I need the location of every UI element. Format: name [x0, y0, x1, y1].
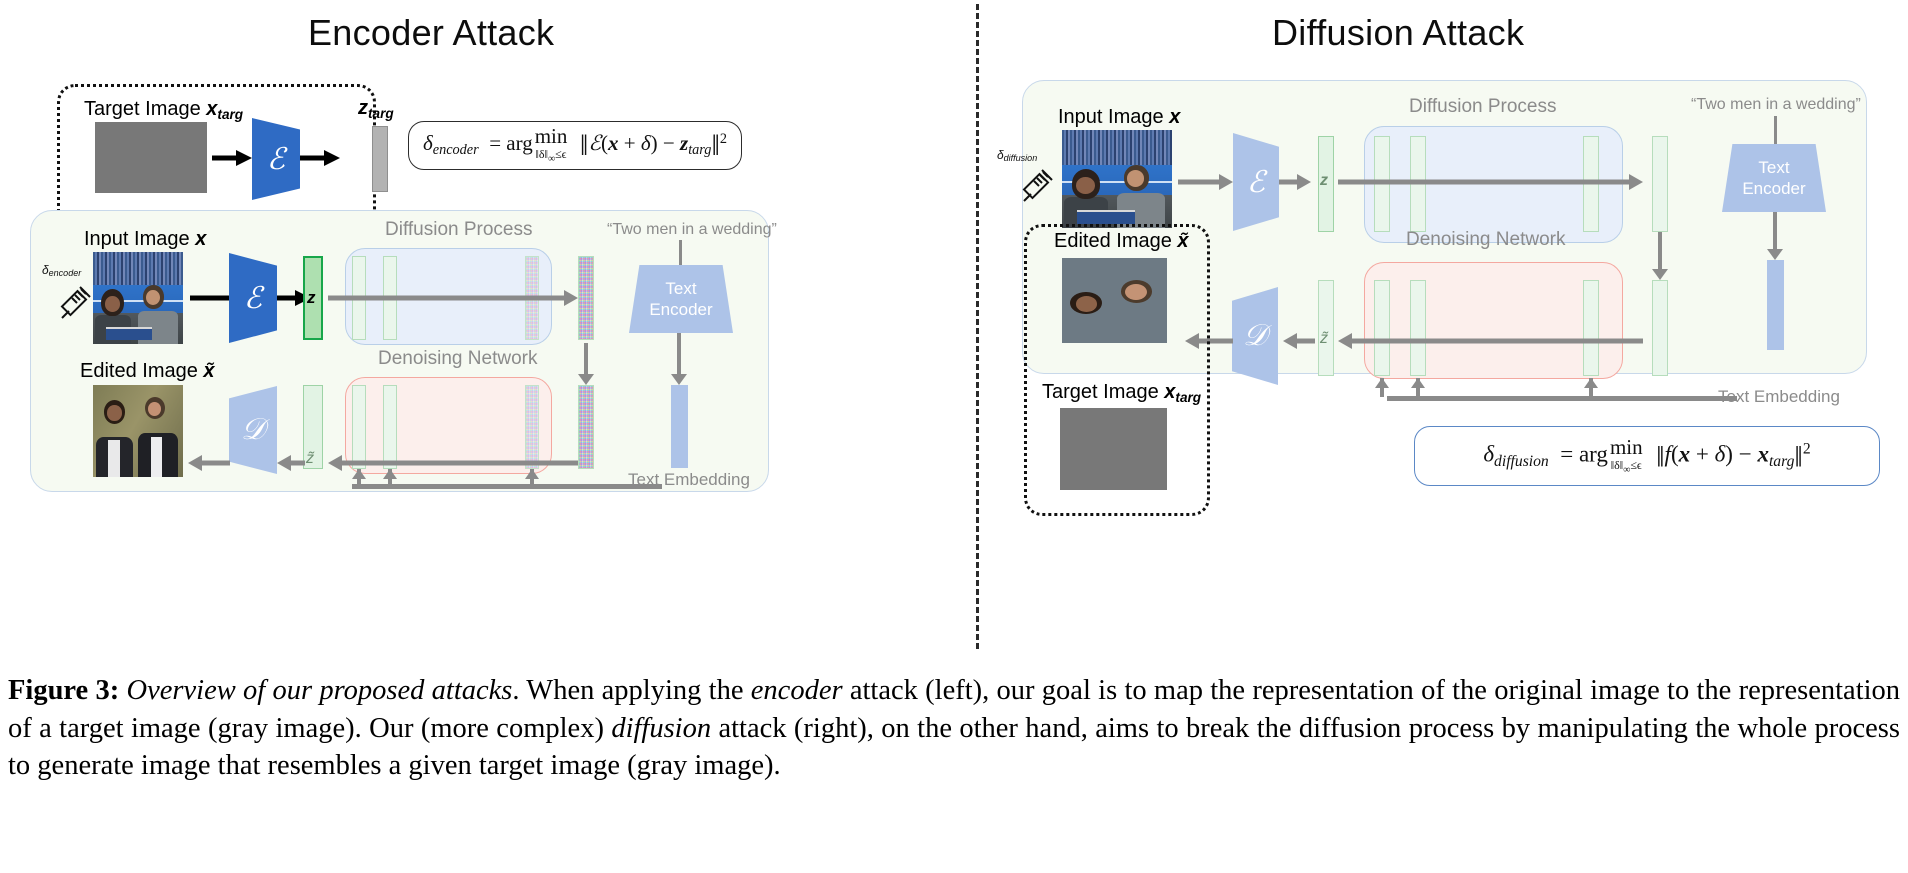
- right-latent-ztilde-bar: [1318, 280, 1334, 376]
- left-target-image-var: x: [206, 98, 217, 120]
- left-denoising-network-label: Denoising Network: [378, 348, 537, 370]
- syringe-icon: [58, 280, 98, 322]
- right-input-image-thumbnail: [1062, 130, 1172, 228]
- left-input-encoder-block: ℰ: [229, 253, 277, 343]
- right-input-image-label: Input Image x: [1058, 106, 1180, 129]
- left-target-image-sub: targ: [217, 107, 243, 122]
- figure-caption: Figure 3: Overview of our proposed attac…: [8, 672, 1900, 785]
- right-input-image-var: x: [1169, 106, 1180, 128]
- right-encoder-block: ℰ: [1233, 133, 1279, 231]
- right-prompt-connector: [1774, 116, 1777, 144]
- encoder-glyph-2: ℰ: [244, 281, 262, 316]
- decoder-glyph-2: 𝒟: [1243, 319, 1267, 353]
- left-prompt-connector: [679, 240, 682, 265]
- left-edited-image-label-text: Edited Image: [80, 360, 198, 382]
- syringe-icon-2: [1020, 163, 1060, 205]
- left-ztarg-sub: targ: [368, 106, 394, 121]
- left-input-image-thumbnail: [93, 252, 183, 344]
- right-edited-image-label: Edited Image x̃: [1054, 230, 1189, 253]
- right-text-encoder-line2: Encoder: [1742, 178, 1805, 199]
- left-edited-image-var: x̃: [203, 360, 214, 382]
- left-perturbation-delta: δ: [42, 263, 49, 277]
- encoder-equation-box: δencoder = argmin‖δ‖∞≤ϵ ‖ℰ(x + δ) − ztar…: [408, 121, 742, 170]
- right-target-image-label-text: Target Image: [1042, 381, 1159, 403]
- right-text-embedding-label: Text Embedding: [1718, 387, 1840, 407]
- right-target-image-sub: targ: [1175, 390, 1201, 405]
- encoder-glyph-3: ℰ: [1247, 165, 1265, 200]
- right-edited-image-var: x̃: [1177, 230, 1188, 252]
- left-edited-image-label: Edited Image x̃: [80, 360, 215, 383]
- encoder-glyph: ℰ: [267, 142, 285, 177]
- left-ztarg-label: ztarg: [358, 97, 394, 121]
- left-text-encoder-line2: Encoder: [649, 299, 712, 320]
- left-target-image-label: Target Image xtarg: [84, 98, 243, 122]
- left-ztarg-bar: [372, 126, 388, 192]
- left-decoder-block: 𝒟: [229, 386, 277, 474]
- left-ztarg-letter: z: [358, 97, 368, 119]
- right-panel-title: Diffusion Attack: [1272, 12, 1524, 54]
- left-noisy-latent-bar-2: [578, 385, 594, 469]
- decoder-glyph: 𝒟: [241, 413, 265, 447]
- right-perturbation-sub: diffusion: [1004, 153, 1038, 163]
- right-target-image-label: Target Image xtarg: [1042, 381, 1201, 405]
- left-latent-z-label: z: [307, 288, 316, 308]
- right-edited-image-thumbnail: [1062, 258, 1167, 343]
- left-input-image-var: x: [195, 228, 206, 250]
- left-perturbation-sub: encoder: [49, 268, 82, 278]
- right-diffused-latent-bar: [1652, 136, 1668, 232]
- right-denoise-step-bar: [1374, 280, 1390, 376]
- left-denoise-step-bar: [352, 385, 366, 469]
- right-text-embedding-bus: [1387, 396, 1737, 401]
- figure-3-root: Encoder Attack Target Image xtarg ℰ ztar…: [0, 0, 1908, 873]
- left-target-image-label-text: Target Image: [84, 98, 201, 120]
- right-text-encoder-block: Text Encoder: [1722, 144, 1826, 212]
- right-latent-ztilde-label: z̃: [1320, 330, 1328, 348]
- right-perturbation-delta: δ: [997, 148, 1004, 162]
- left-input-image-label-text: Input Image: [84, 228, 190, 250]
- caption-rest-1: . When applying the: [512, 675, 750, 706]
- right-prompt-text: “Two men in a wedding”: [1691, 96, 1861, 114]
- left-perturbation-label: δencoder: [42, 263, 81, 278]
- left-prompt-text: “Two men in a wedding”: [607, 221, 777, 239]
- right-latent-z-label: z: [1320, 172, 1328, 190]
- right-text-encoder-line1: Text: [1758, 157, 1789, 178]
- caption-label: Figure 3:: [8, 675, 119, 706]
- right-input-image-label-text: Input Image: [1058, 106, 1164, 128]
- encoder-equation: δencoder = argmin‖δ‖∞≤ϵ ‖ℰ(x + δ) − ztar…: [423, 126, 727, 164]
- left-target-image-thumbnail: [95, 122, 207, 193]
- caption-emph-1: Overview of our proposed attacks: [127, 675, 513, 706]
- right-denoising-network-label: Denoising Network: [1406, 229, 1565, 251]
- left-text-embedding-bus: [352, 484, 662, 489]
- left-text-embedding-bar: [671, 385, 688, 468]
- right-target-image-thumbnail: [1060, 408, 1167, 490]
- caption-emph-3: diffusion: [611, 713, 711, 744]
- right-denoise-step-bar: [1583, 280, 1599, 376]
- left-text-encoder-line1: Text: [665, 278, 696, 299]
- diffusion-equation-box: δdiffusion = argmin‖δ‖∞≤ϵ ‖f(x + δ) − xt…: [1414, 426, 1880, 486]
- panel-divider: [976, 4, 979, 649]
- left-target-encoder-block: ℰ: [252, 118, 300, 200]
- right-denoise-step-bar: [1410, 280, 1426, 376]
- right-diffused-latent-bar-2: [1652, 280, 1668, 376]
- right-perturbation-label: δdiffusion: [997, 148, 1037, 163]
- left-panel-title: Encoder Attack: [308, 12, 554, 54]
- left-diffusion-process-label: Diffusion Process: [385, 219, 533, 241]
- right-target-image-var: x: [1164, 381, 1175, 403]
- right-decoder-block: 𝒟: [1232, 287, 1278, 385]
- diffusion-equation: δdiffusion = argmin‖δ‖∞≤ϵ ‖f(x + δ) − xt…: [1483, 437, 1810, 475]
- left-denoise-step-bar: [383, 385, 397, 469]
- left-input-image-label: Input Image x: [84, 228, 206, 251]
- left-edited-image-thumbnail: [93, 385, 183, 477]
- left-latent-ztilde-label: z̃: [306, 450, 314, 468]
- caption-emph-2: encoder: [751, 675, 843, 706]
- right-diffusion-process-label: Diffusion Process: [1409, 96, 1557, 118]
- left-text-encoder-block: Text Encoder: [629, 265, 733, 333]
- left-text-embedding-label: Text Embedding: [628, 470, 750, 490]
- left-noisy-latent-bar: [578, 256, 594, 340]
- left-denoise-noise-bar: [525, 385, 539, 469]
- right-text-embedding-bar: [1767, 260, 1784, 350]
- left-denoising-network-region: [345, 377, 552, 474]
- right-edited-image-label-text: Edited Image: [1054, 230, 1172, 252]
